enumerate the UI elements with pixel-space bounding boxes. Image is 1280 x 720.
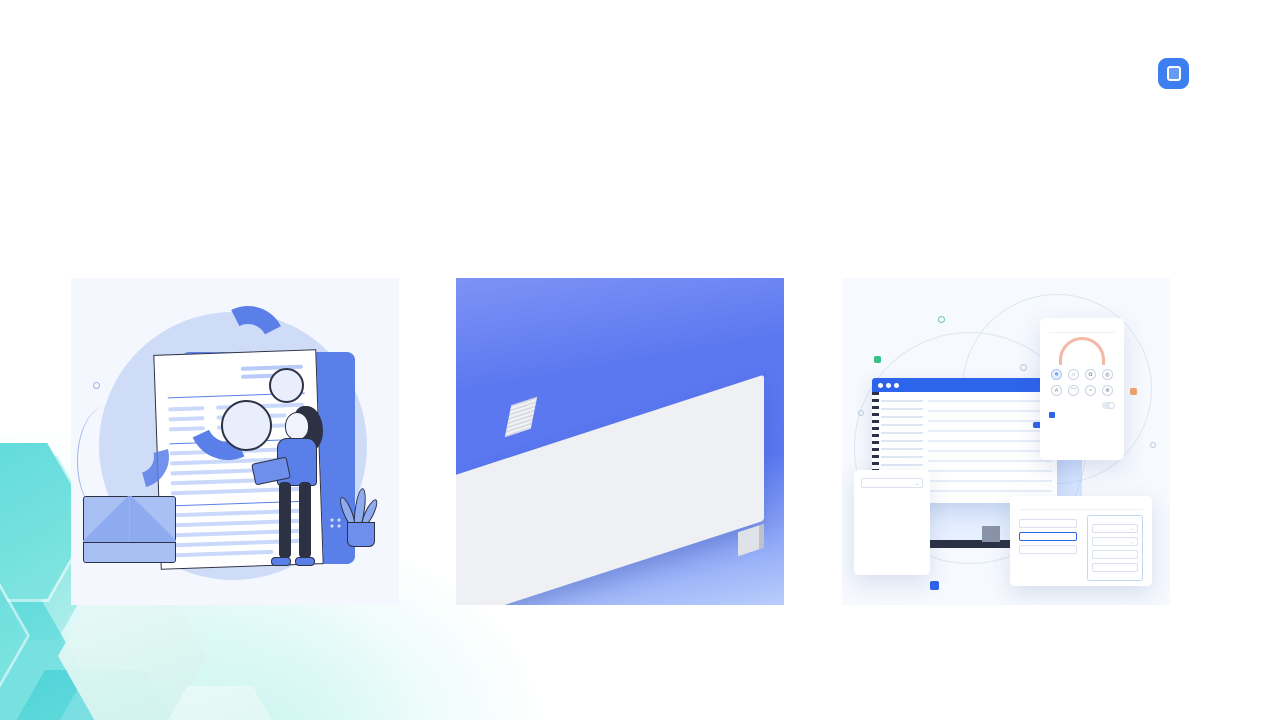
currency-coin-icon — [269, 368, 304, 403]
chevron-down-icon: ⌄ — [1131, 539, 1134, 544]
window-dot — [878, 383, 883, 388]
space-tree-panel[interactable]: ⌄ — [854, 470, 930, 575]
low-wind-icon: ⌒ — [1068, 385, 1079, 396]
ac-control-panel[interactable]: ❅ ☼ ✿ ◍ — [1040, 318, 1124, 460]
window-dot — [886, 383, 891, 388]
column-improve-management — [46, 110, 424, 605]
pixel-pattern-top-right — [1030, 0, 1280, 125]
decorative-square — [874, 356, 881, 363]
column-heading — [817, 110, 1195, 162]
droplet-icon: ◍ — [1102, 369, 1113, 380]
stairs-shape — [505, 397, 537, 438]
mid-wind-icon: ≈ — [1085, 385, 1096, 396]
divider — [1049, 332, 1115, 333]
monitor-neck — [982, 526, 1000, 542]
chevron-down-icon: ⌄ — [1131, 526, 1134, 531]
mode-button-cool[interactable]: ❅ — [1049, 369, 1064, 381]
lock-toggle[interactable] — [1102, 402, 1115, 409]
filter-condition-column: ⌄ ⌄ — [1087, 515, 1143, 581]
column-heading — [46, 110, 424, 162]
decorative-dot — [93, 382, 100, 389]
window-data-grid — [928, 400, 1052, 499]
temperature-dial[interactable] — [1059, 337, 1105, 365]
app-square-icon — [1158, 58, 1189, 89]
bill-line — [173, 550, 273, 557]
column-iot-digital-twin — [431, 110, 809, 605]
tree-tabs — [861, 494, 923, 496]
platform-ui-mockups: ❅ ☼ ✿ ◍ — [842, 278, 1170, 605]
content-columns: ❅ ☼ ✿ ◍ — [0, 110, 1280, 605]
decorative-square — [930, 581, 939, 590]
filter-columns: ⌄ ⌄ — [1019, 515, 1143, 581]
column-heading — [431, 110, 809, 162]
sun-icon: ☼ — [1068, 369, 1079, 380]
dial-arc — [1059, 337, 1105, 365]
filter-condition-select-1[interactable]: ⌄ — [1092, 524, 1138, 533]
filter-condition-add-button[interactable] — [1092, 563, 1138, 572]
column-centralized-control: ❅ ☼ ✿ ◍ — [817, 110, 1195, 605]
app-square-inner — [1167, 66, 1181, 81]
floor-slab — [456, 375, 764, 605]
window-dot — [894, 383, 899, 388]
filter-condition-select-2[interactable]: ⌄ — [1092, 537, 1138, 546]
column-body-text — [431, 162, 809, 270]
fan-icon: ✿ — [1085, 369, 1096, 380]
filter-group-input[interactable] — [1019, 519, 1077, 528]
decorative-square — [1130, 388, 1137, 395]
decorative-circle — [858, 410, 864, 416]
envelope-icon — [83, 496, 176, 563]
hexagon-shape — [155, 686, 285, 720]
window-titlebar — [872, 378, 1057, 392]
hexagon-shape — [0, 670, 195, 720]
decorative-circle — [938, 316, 945, 323]
pixel-pattern-top-left — [0, 0, 230, 115]
checkbox-icon[interactable] — [1049, 412, 1055, 418]
mode-button-heat[interactable]: ☼ — [1066, 369, 1081, 381]
fan-button-row: A ⌒ ≈ ❋ — [1049, 385, 1115, 397]
filter-group-add-button[interactable] — [1019, 545, 1077, 554]
hexagon-shape — [58, 590, 208, 720]
custom-filter-dialog[interactable]: ⌄ ⌄ — [1010, 496, 1152, 586]
plant-pot — [347, 522, 375, 547]
column-body-text — [46, 162, 424, 270]
decorative-circle — [1150, 442, 1156, 448]
decorative-circle — [1020, 364, 1027, 371]
person-shoe — [295, 557, 315, 566]
digital-twin-isometric-illustration — [456, 278, 784, 605]
column-body-text — [817, 162, 1195, 270]
person-leg — [299, 482, 311, 558]
divider — [1019, 509, 1143, 510]
org-select[interactable]: ⌄ — [861, 478, 923, 488]
electricity-bill-illustration — [71, 278, 399, 605]
person-leg — [279, 482, 291, 558]
filter-group-name-input[interactable] — [1019, 532, 1077, 541]
person-head — [285, 412, 309, 440]
auto-a-icon: A — [1051, 385, 1062, 396]
mode-button-dry[interactable]: ◍ — [1100, 369, 1115, 381]
high-wind-icon: ❋ — [1102, 385, 1113, 396]
chevron-down-icon: ⌄ — [915, 481, 919, 486]
person-shoe — [271, 557, 291, 566]
fan-button-mid[interactable]: ≈ — [1083, 385, 1098, 397]
lock-note — [1049, 412, 1115, 418]
fan-button-high[interactable]: ❋ — [1100, 385, 1115, 397]
snowflake-icon: ❅ — [1051, 369, 1062, 380]
filter-group-column — [1019, 515, 1077, 581]
lock-row — [1049, 402, 1115, 409]
mode-button-fan[interactable]: ✿ — [1083, 369, 1098, 381]
currency-coin-icon — [221, 400, 272, 451]
filter-condition-value-input[interactable] — [1092, 550, 1138, 559]
equipment-cube — [738, 524, 764, 556]
fan-button-auto[interactable]: A — [1049, 385, 1064, 397]
mode-button-row: ❅ ☼ ✿ ◍ — [1049, 369, 1115, 381]
fan-button-low[interactable]: ⌒ — [1066, 385, 1081, 397]
brand-logo — [1158, 58, 1198, 89]
